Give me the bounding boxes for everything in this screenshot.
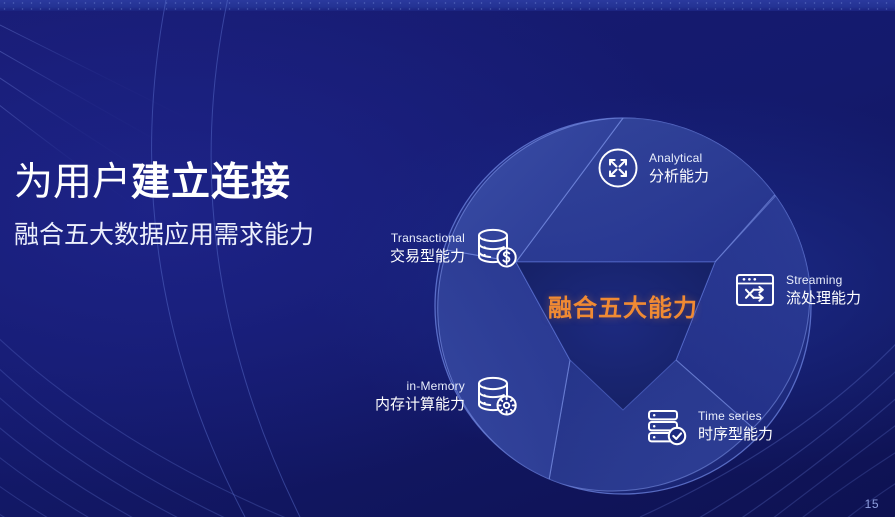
database-dollar-icon <box>474 226 518 270</box>
capability-node-inmemory[interactable]: in-Memory 内存计算能力 <box>375 374 518 418</box>
capability-node-timeseries[interactable]: Time series 时序型能力 <box>645 404 773 448</box>
headline-subtitle: 融合五大数据应用需求能力 <box>14 218 434 252</box>
capability-node-analytical[interactable]: Analytical 分析能力 <box>596 146 709 190</box>
headline-emphasis: 建立连接 <box>131 161 291 204</box>
capability-label-timeseries: Time series 时序型能力 <box>698 407 773 445</box>
capability-en-label: Streaming <box>786 273 843 287</box>
database-gear-icon <box>474 374 518 418</box>
capability-node-streaming[interactable]: Streaming 流处理能力 <box>733 268 861 312</box>
capability-zh-label: 流处理能力 <box>786 290 861 307</box>
capability-label-streaming: Streaming 流处理能力 <box>786 271 861 309</box>
page-number: 15 <box>865 497 879 511</box>
capability-en-label: in-Memory <box>407 379 465 393</box>
slide-canvas: 为用户建立连接 融合五大数据应用需求能力 <box>0 0 895 517</box>
headline-block: 为用户建立连接 融合五大数据应用需求能力 <box>14 158 434 252</box>
browser-shuffle-icon <box>733 268 777 312</box>
capability-en-label: Analytical <box>649 151 702 165</box>
capability-label-analytical: Analytical 分析能力 <box>649 149 709 187</box>
capability-en-label: Time series <box>698 409 762 423</box>
arrows-collapse-circle-icon <box>596 146 640 190</box>
server-stack-check-icon <box>645 404 689 448</box>
capability-label-inmemory: in-Memory 内存计算能力 <box>375 377 465 415</box>
capability-zh-label: 时序型能力 <box>698 426 773 443</box>
capability-label-transactional: Transactional 交易型能力 <box>390 229 465 267</box>
headline-line-1: 为用户建立连接 <box>14 158 434 208</box>
capability-zh-label: 分析能力 <box>649 168 709 185</box>
headline-prefix: 为用户 <box>14 161 131 204</box>
capability-en-label: Transactional <box>391 231 465 245</box>
capability-node-transactional[interactable]: Transactional 交易型能力 <box>390 226 518 270</box>
capability-zh-label: 内存计算能力 <box>375 396 465 413</box>
capability-zh-label: 交易型能力 <box>390 248 465 265</box>
